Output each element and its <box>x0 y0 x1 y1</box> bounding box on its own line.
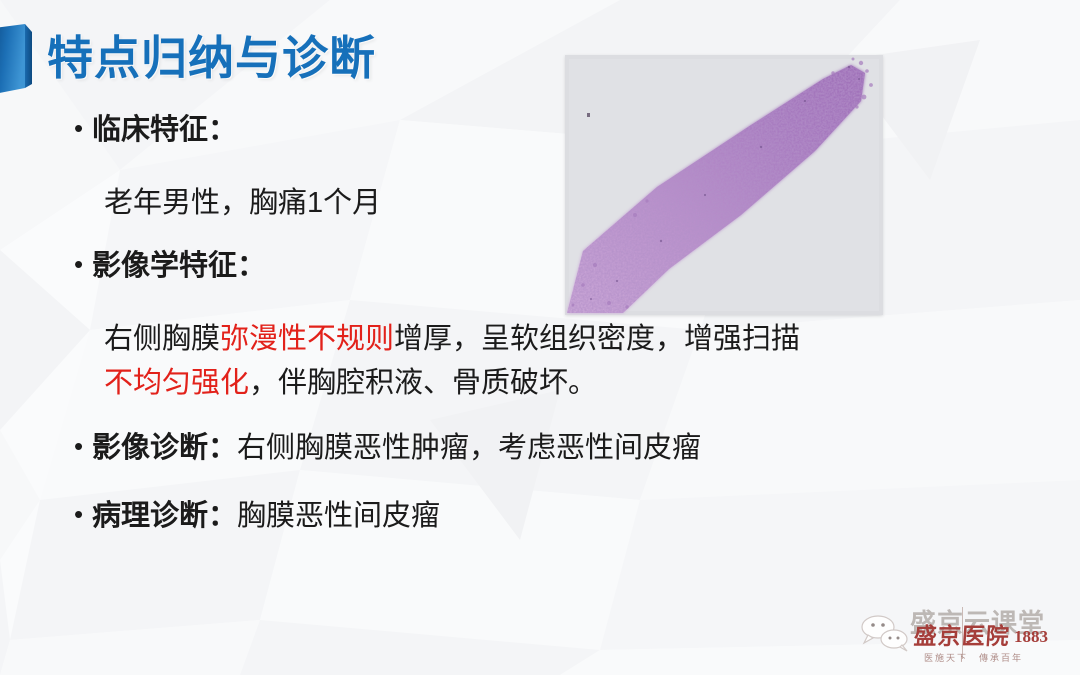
title-accent-block <box>0 24 34 96</box>
watermark-hospital-text: 盛京医院 <box>913 617 1011 651</box>
bullet-clinical-features: • 临床特征： <box>62 112 1022 150</box>
bullet-label-clinical: 临床特征： <box>92 112 1022 150</box>
diagnosis-imaging-value: 右侧胸膜恶性肿瘤，考虑恶性间皮瘤 <box>237 432 701 464</box>
imaging-text-1a: 右侧胸膜 <box>104 323 220 355</box>
bullet-pathology-diagnosis: • 病理诊断：胸膜恶性间皮瘤 <box>62 498 1022 536</box>
bullet-marker: • <box>62 248 92 281</box>
imaging-detail-line-2: 不均匀强化，伴胸腔积液、骨质破坏。 <box>104 364 1022 402</box>
imaging-text-2b: ，伴胸腔积液、骨质破坏。 <box>249 367 597 399</box>
page-title: 特点归纳与诊断 <box>47 22 376 88</box>
slide-body: • 临床特征： 老年男性，胸痛1个月 • 影像学特征： 右侧胸膜弥漫性不规则增厚… <box>62 112 1022 544</box>
diagnosis-pathology: 病理诊断：胸膜恶性间皮瘤 <box>92 498 1022 536</box>
watermark-main-text: 盛京云课堂 <box>910 603 1045 640</box>
imaging-detail-line-1: 右侧胸膜弥漫性不规则增厚，呈软组织密度，增强扫描 <box>104 320 1022 358</box>
bullet-marker: • <box>62 430 92 463</box>
bullet-marker: • <box>62 112 92 145</box>
diagnosis-pathology-value: 胸膜恶性间皮瘤 <box>237 500 440 532</box>
bullet-imaging-features: • 影像学特征： <box>62 248 1022 286</box>
presentation-slide: 特点归纳与诊断 <box>0 0 1080 675</box>
wechat-bubble-icon <box>858 613 914 653</box>
watermark-tagline: 医施天下 傳承百年 <box>924 651 1023 664</box>
bullet-marker: • <box>62 498 92 531</box>
clinical-detail: 老年男性，胸痛1个月 <box>104 184 1022 222</box>
imaging-highlight-1: 弥漫性不规则 <box>220 323 394 355</box>
diagnosis-pathology-label: 病理诊断： <box>92 500 237 532</box>
watermark: 盛京云课堂 盛京医院 1883 医施天下 傳承百年 <box>854 599 1072 671</box>
diagnosis-imaging-label: 影像诊断： <box>92 432 237 464</box>
imaging-highlight-2: 不均匀强化 <box>104 367 249 399</box>
bullet-label-imaging: 影像学特征： <box>92 248 1022 286</box>
diagnosis-imaging: 影像诊断：右侧胸膜恶性肿瘤，考虑恶性间皮瘤 <box>92 430 1022 468</box>
imaging-text-1b: 增厚，呈软组织密度，增强扫描 <box>394 323 800 355</box>
bullet-imaging-diagnosis: • 影像诊断：右侧胸膜恶性肿瘤，考虑恶性间皮瘤 <box>62 430 1022 468</box>
watermark-text-group: 盛京云课堂 盛京医院 1883 医施天下 傳承百年 <box>910 601 1070 669</box>
watermark-year: 1883 <box>1014 627 1048 647</box>
watermark-bracket <box>962 607 1080 659</box>
